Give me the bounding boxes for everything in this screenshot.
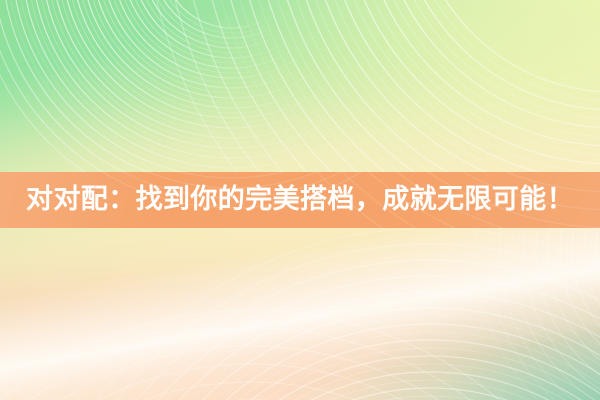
headline-text: 对对配：找到你的完美搭档，成就无限可能！	[26, 172, 574, 228]
headline-band: 对对配：找到你的完美搭档，成就无限可能！	[0, 172, 600, 228]
promo-banner: 对对配：找到你的完美搭档，成就无限可能！	[0, 0, 600, 400]
